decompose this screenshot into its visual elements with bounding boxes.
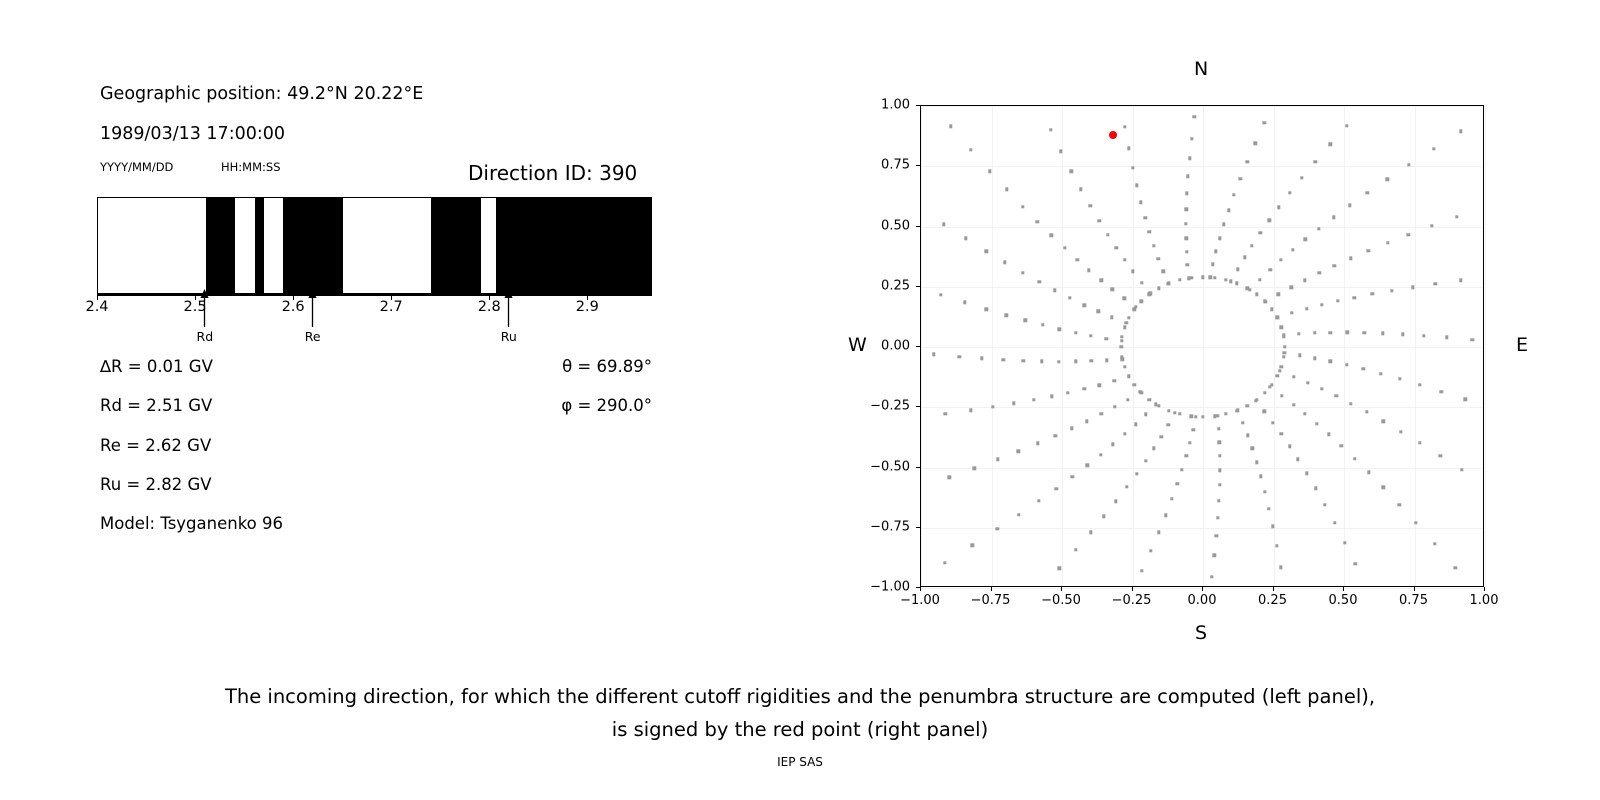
right-panel: −1.00−0.75−0.50−0.250.000.250.500.751.00… — [760, 0, 1600, 680]
y-axis-tick-label: −1.00 — [854, 580, 910, 595]
y-axis-tick-label: 0.75 — [854, 158, 910, 173]
x-axis-tick — [1484, 587, 1485, 591]
y-axis-tick — [916, 105, 920, 106]
selected-direction-point[interactable] — [1109, 131, 1117, 139]
compass-east-label: E — [1516, 334, 1528, 356]
y-axis-tick-label: 1.00 — [854, 98, 910, 113]
x-axis-tick — [1414, 587, 1415, 591]
angle-parameter-row: θ = 69.89° — [562, 357, 652, 376]
x-axis-tick — [1202, 587, 1203, 591]
x-axis-tick — [1061, 587, 1062, 591]
x-axis-tick — [991, 587, 992, 591]
x-axis-tick-label: −1.00 — [900, 593, 940, 608]
footer-credit: IEP SAS — [0, 755, 1600, 769]
y-axis-tick — [916, 346, 920, 347]
y-axis-tick-label: 0.50 — [854, 218, 910, 233]
y-axis-tick — [916, 527, 920, 528]
caption-line-2: is signed by the red point (right panel) — [0, 713, 1600, 746]
x-axis-tick-label: 0.00 — [1188, 593, 1217, 608]
y-axis-tick — [916, 467, 920, 468]
y-axis-tick-label: 0.25 — [854, 278, 910, 293]
y-axis-tick — [916, 587, 920, 588]
y-axis-tick — [916, 226, 920, 227]
y-axis-tick-label: −0.25 — [854, 399, 910, 414]
y-axis-tick — [916, 165, 920, 166]
compass-west-label: W — [848, 334, 867, 356]
x-axis-tick-label: −0.50 — [1041, 593, 1081, 608]
x-axis-tick — [1273, 587, 1274, 591]
y-axis-tick — [916, 286, 920, 287]
angle-parameter-row: φ = 290.0° — [561, 396, 652, 415]
y-axis-tick-label: −0.75 — [854, 519, 910, 534]
y-axis-tick — [916, 406, 920, 407]
sky-map-axes: −1.00−0.75−0.50−0.250.000.250.500.751.00… — [760, 0, 1600, 680]
x-axis-tick-label: −0.25 — [1112, 593, 1152, 608]
caption-line-1: The incoming direction, for which the di… — [0, 680, 1600, 713]
x-axis-tick — [1132, 587, 1133, 591]
x-axis-tick-label: −0.75 — [971, 593, 1011, 608]
x-axis-tick-label: 1.00 — [1470, 593, 1499, 608]
x-axis-tick-label: 0.75 — [1399, 593, 1428, 608]
left-panel: Geographic position: 49.2°N 20.22°E 1989… — [0, 0, 760, 620]
y-axis-tick-label: −0.50 — [854, 459, 910, 474]
x-axis-tick-label: 0.25 — [1258, 593, 1287, 608]
x-axis-tick — [1343, 587, 1344, 591]
angle-parameter-list: θ = 69.89°φ = 290.0° — [0, 0, 760, 560]
x-axis-tick — [920, 587, 921, 591]
compass-south-label: S — [1195, 622, 1207, 644]
compass-north-label: N — [1194, 58, 1208, 80]
x-axis-tick-label: 0.50 — [1329, 593, 1358, 608]
figure-caption: The incoming direction, for which the di… — [0, 680, 1600, 746]
